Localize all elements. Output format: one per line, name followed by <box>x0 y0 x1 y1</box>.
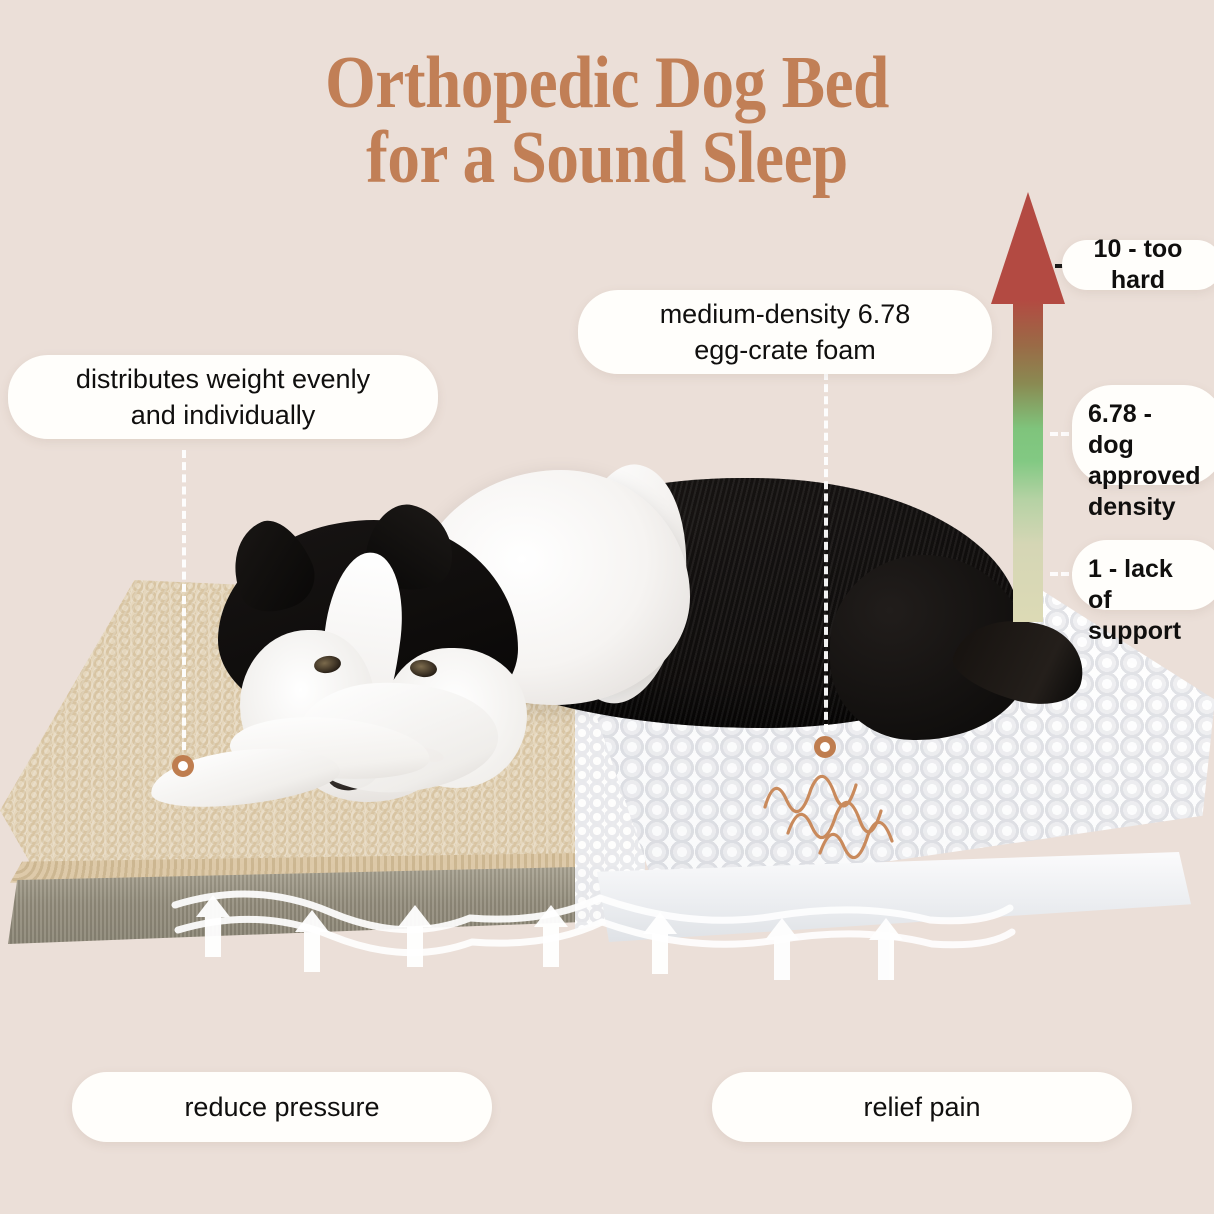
page-title: Orthopedic Dog Bed for a Sound Sleep <box>0 46 1214 196</box>
benefit-reduce-pressure[interactable]: reduce pressure <box>72 1072 492 1142</box>
callout-distributes-weight[interactable]: distributes weight evenly and individual… <box>8 355 438 439</box>
scale-label-678-line-1: 6.78 - dog <box>1088 399 1198 461</box>
scale-label-dog-approved[interactable]: 6.78 - dog approved density <box>1072 385 1214 485</box>
leader-line-foam <box>824 372 828 732</box>
scale-label-1-line-1: 1 - lack of <box>1088 554 1198 616</box>
ring-marker-icon-weight <box>172 755 194 777</box>
callout-medium-density-foam[interactable]: medium-density 6.78 egg-crate foam <box>578 290 992 374</box>
scale-arrow-head-icon <box>991 192 1065 304</box>
infographic-canvas: Orthopedic Dog Bed for a Sound Sleep <box>0 0 1214 1214</box>
scale-label-678-line-2: approved <box>1088 461 1201 492</box>
benefit-relief-pain[interactable]: relief pain <box>712 1072 1132 1142</box>
callout-foam-line-2: egg-crate foam <box>694 332 876 368</box>
benefit-relief-pain-label: relief pain <box>863 1089 980 1125</box>
ring-marker-icon-foam <box>814 736 836 758</box>
scale-label-678-line-3: density <box>1088 492 1176 523</box>
scale-label-lack-of-support[interactable]: 1 - lack of support <box>1072 540 1214 610</box>
benefit-reduce-pressure-label: reduce pressure <box>184 1089 379 1125</box>
title-line-2: for a Sound Sleep <box>73 121 1141 196</box>
scale-label-too-hard[interactable]: 10 - too hard <box>1062 240 1214 290</box>
title-line-1: Orthopedic Dog Bed <box>73 46 1141 121</box>
squiggle-wave-icon <box>760 755 990 860</box>
dog-border-collie <box>110 460 980 800</box>
callout-weight-line-1: distributes weight evenly <box>76 361 370 397</box>
scale-arrow-shaft <box>1013 300 1043 622</box>
density-scale-arrow <box>1000 192 1056 622</box>
scale-label-1-line-2: support <box>1088 616 1181 647</box>
callout-weight-line-2: and individually <box>131 397 316 433</box>
callout-foam-line-1: medium-density 6.78 <box>660 296 911 332</box>
leader-line-weight <box>182 450 186 750</box>
scale-label-10-text: 10 - too hard <box>1080 234 1196 296</box>
